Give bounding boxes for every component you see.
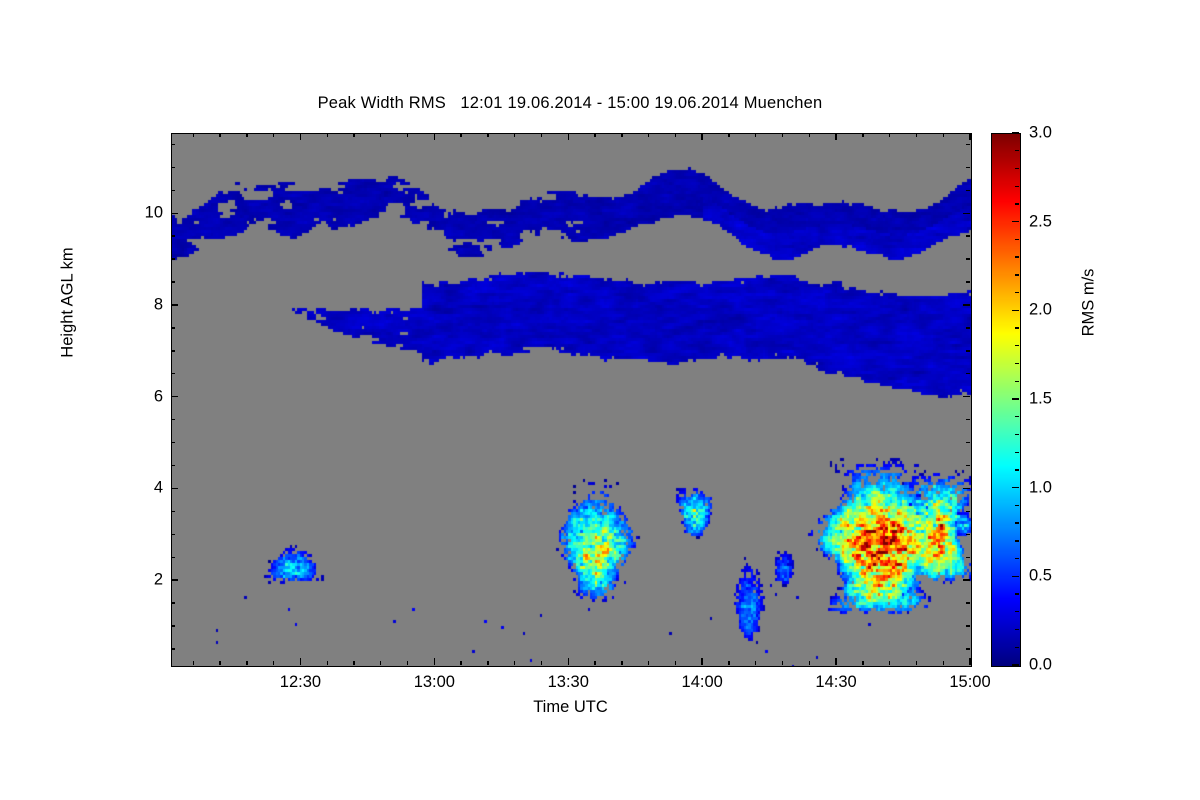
x-axis-label: Time UTC bbox=[171, 698, 970, 717]
x-major-tick bbox=[835, 658, 836, 665]
colorbar-tick-label-4: 2.0 bbox=[1029, 301, 1052, 320]
colorbar-minor-tick bbox=[1015, 505, 1019, 506]
y-minor-tick bbox=[171, 465, 175, 466]
y-minor-tick bbox=[966, 511, 970, 512]
page-title: Peak Width RMS 12:01 19.06.2014 - 15:00 … bbox=[0, 94, 1140, 113]
x-major-tick bbox=[969, 133, 970, 140]
y-minor-tick bbox=[966, 419, 970, 420]
colorbar-minor-tick bbox=[1015, 558, 1019, 559]
x-minor-tick bbox=[862, 661, 863, 665]
x-minor-tick bbox=[407, 661, 408, 665]
colorbar-tick-label-2: 1.0 bbox=[1029, 478, 1052, 497]
y-minor-tick bbox=[171, 190, 175, 191]
colorbar-minor-tick bbox=[1015, 611, 1019, 612]
colorbar-minor-tick bbox=[1015, 345, 1019, 346]
y-tick-label-4: 10 bbox=[145, 204, 163, 223]
x-minor-tick bbox=[460, 133, 461, 137]
y-minor-tick bbox=[966, 442, 970, 443]
y-minor-tick bbox=[171, 648, 175, 649]
y-tick-label-2: 6 bbox=[154, 387, 163, 406]
x-tick-label-4: 14:30 bbox=[815, 673, 856, 692]
x-minor-tick bbox=[943, 661, 944, 665]
colorbar-minor-tick bbox=[1015, 540, 1019, 541]
colorbar bbox=[991, 133, 1021, 667]
y-minor-tick bbox=[171, 350, 175, 351]
x-tick-label-3: 14:00 bbox=[682, 673, 723, 692]
x-minor-tick bbox=[916, 133, 917, 137]
plot-area bbox=[171, 133, 972, 667]
x-major-tick bbox=[568, 133, 569, 140]
colorbar-minor-tick bbox=[1015, 203, 1019, 204]
x-minor-tick bbox=[193, 133, 194, 137]
colorbar-tick-label-5: 2.5 bbox=[1029, 212, 1052, 231]
x-minor-tick bbox=[487, 661, 488, 665]
x-minor-tick bbox=[541, 661, 542, 665]
colorbar-major-tick bbox=[1012, 398, 1019, 399]
x-minor-tick bbox=[728, 661, 729, 665]
x-major-tick bbox=[300, 133, 301, 140]
heatmap-canvas bbox=[172, 134, 971, 666]
y-minor-tick bbox=[966, 625, 970, 626]
x-minor-tick bbox=[246, 133, 247, 137]
x-minor-tick bbox=[889, 133, 890, 137]
y-minor-tick bbox=[966, 190, 970, 191]
x-minor-tick bbox=[380, 133, 381, 137]
x-minor-tick bbox=[809, 661, 810, 665]
y-major-tick bbox=[963, 579, 970, 580]
colorbar-minor-tick bbox=[1015, 256, 1019, 257]
x-minor-tick bbox=[273, 661, 274, 665]
x-minor-tick bbox=[380, 661, 381, 665]
colorbar-minor-tick bbox=[1015, 629, 1019, 630]
y-minor-tick bbox=[171, 373, 175, 374]
x-major-tick bbox=[434, 658, 435, 665]
x-minor-tick bbox=[943, 133, 944, 137]
x-minor-tick bbox=[782, 661, 783, 665]
x-major-tick bbox=[300, 658, 301, 665]
x-minor-tick bbox=[755, 133, 756, 137]
colorbar-tick-label-3: 1.5 bbox=[1029, 390, 1052, 409]
y-minor-tick bbox=[171, 442, 175, 443]
x-minor-tick bbox=[541, 133, 542, 137]
colorbar-label: RMS m/s bbox=[1080, 197, 1099, 409]
y-minor-tick bbox=[966, 534, 970, 535]
colorbar-major-tick bbox=[1012, 487, 1019, 488]
y-major-tick bbox=[171, 488, 178, 489]
x-minor-tick bbox=[648, 133, 649, 137]
x-major-tick bbox=[701, 658, 702, 665]
x-minor-tick bbox=[487, 133, 488, 137]
y-minor-tick bbox=[966, 281, 970, 282]
colorbar-major-tick bbox=[1012, 664, 1019, 665]
x-minor-tick bbox=[353, 133, 354, 137]
y-minor-tick bbox=[171, 144, 175, 145]
y-tick-label-3: 8 bbox=[154, 295, 163, 314]
x-minor-tick bbox=[594, 661, 595, 665]
lidar-time-height-figure: Peak Width RMS 12:01 19.06.2014 - 15:00 … bbox=[0, 0, 1200, 800]
x-minor-tick bbox=[728, 133, 729, 137]
x-tick-label-5: 15:00 bbox=[949, 673, 990, 692]
colorbar-minor-tick bbox=[1015, 381, 1019, 382]
x-major-tick bbox=[835, 133, 836, 140]
y-minor-tick bbox=[171, 167, 175, 168]
x-minor-tick bbox=[594, 133, 595, 137]
x-major-tick bbox=[434, 133, 435, 140]
y-axis-label: Height AGL km bbox=[59, 197, 78, 409]
colorbar-minor-tick bbox=[1015, 593, 1019, 594]
colorbar-tick-label-6: 3.0 bbox=[1029, 124, 1052, 143]
y-major-tick bbox=[963, 213, 970, 214]
x-minor-tick bbox=[621, 133, 622, 137]
colorbar-minor-tick bbox=[1015, 186, 1019, 187]
x-tick-label-1: 13:00 bbox=[414, 673, 455, 692]
x-minor-tick bbox=[514, 133, 515, 137]
colorbar-tick-label-0: 0.0 bbox=[1029, 656, 1052, 675]
x-minor-tick bbox=[246, 661, 247, 665]
colorbar-major-tick bbox=[1012, 576, 1019, 577]
y-minor-tick bbox=[171, 327, 175, 328]
x-minor-tick bbox=[327, 133, 328, 137]
x-minor-tick bbox=[782, 133, 783, 137]
x-minor-tick bbox=[621, 661, 622, 665]
colorbar-major-tick bbox=[1012, 310, 1019, 311]
x-minor-tick bbox=[327, 661, 328, 665]
y-minor-tick bbox=[966, 258, 970, 259]
x-major-tick bbox=[701, 133, 702, 140]
colorbar-minor-tick bbox=[1015, 452, 1019, 453]
y-minor-tick bbox=[171, 602, 175, 603]
colorbar-minor-tick bbox=[1015, 416, 1019, 417]
y-tick-label-0: 2 bbox=[154, 571, 163, 590]
y-minor-tick bbox=[966, 327, 970, 328]
colorbar-tick-label-1: 0.5 bbox=[1029, 567, 1052, 586]
y-minor-tick bbox=[966, 167, 970, 168]
y-minor-tick bbox=[966, 648, 970, 649]
y-minor-tick bbox=[966, 602, 970, 603]
colorbar-minor-tick bbox=[1015, 168, 1019, 169]
y-minor-tick bbox=[966, 557, 970, 558]
y-minor-tick bbox=[171, 557, 175, 558]
x-minor-tick bbox=[273, 133, 274, 137]
y-major-tick bbox=[963, 488, 970, 489]
x-minor-tick bbox=[514, 661, 515, 665]
y-minor-tick bbox=[171, 258, 175, 259]
colorbar-minor-tick bbox=[1015, 327, 1019, 328]
colorbar-major-tick bbox=[1012, 132, 1019, 133]
colorbar-minor-tick bbox=[1015, 150, 1019, 151]
x-minor-tick bbox=[353, 661, 354, 665]
x-minor-tick bbox=[219, 133, 220, 137]
x-minor-tick bbox=[460, 661, 461, 665]
y-minor-tick bbox=[171, 534, 175, 535]
colorbar-minor-tick bbox=[1015, 239, 1019, 240]
colorbar-major-tick bbox=[1012, 221, 1019, 222]
colorbar-minor-tick bbox=[1015, 274, 1019, 275]
y-major-tick bbox=[171, 304, 178, 305]
colorbar-minor-tick bbox=[1015, 292, 1019, 293]
x-minor-tick bbox=[755, 661, 756, 665]
colorbar-minor-tick bbox=[1015, 434, 1019, 435]
y-minor-tick bbox=[966, 465, 970, 466]
x-minor-tick bbox=[862, 133, 863, 137]
x-minor-tick bbox=[675, 133, 676, 137]
x-minor-tick bbox=[675, 661, 676, 665]
y-minor-tick bbox=[966, 235, 970, 236]
y-minor-tick bbox=[171, 625, 175, 626]
y-major-tick bbox=[171, 213, 178, 214]
x-major-tick bbox=[969, 658, 970, 665]
y-minor-tick bbox=[171, 419, 175, 420]
x-tick-label-0: 12:30 bbox=[280, 673, 321, 692]
x-minor-tick bbox=[193, 661, 194, 665]
y-minor-tick bbox=[966, 373, 970, 374]
y-minor-tick bbox=[966, 144, 970, 145]
colorbar-minor-tick bbox=[1015, 522, 1019, 523]
y-major-tick bbox=[963, 396, 970, 397]
x-minor-tick bbox=[648, 661, 649, 665]
x-tick-label-2: 13:30 bbox=[548, 673, 589, 692]
colorbar-minor-tick bbox=[1015, 363, 1019, 364]
y-minor-tick bbox=[171, 511, 175, 512]
colorbar-gradient bbox=[992, 134, 1020, 666]
y-major-tick bbox=[171, 579, 178, 580]
y-major-tick bbox=[171, 396, 178, 397]
y-tick-label-1: 4 bbox=[154, 479, 163, 498]
x-minor-tick bbox=[809, 133, 810, 137]
x-minor-tick bbox=[889, 661, 890, 665]
y-major-tick bbox=[963, 304, 970, 305]
y-minor-tick bbox=[171, 235, 175, 236]
x-major-tick bbox=[568, 658, 569, 665]
colorbar-minor-tick bbox=[1015, 469, 1019, 470]
y-minor-tick bbox=[966, 350, 970, 351]
x-minor-tick bbox=[407, 133, 408, 137]
colorbar-minor-tick bbox=[1015, 647, 1019, 648]
y-minor-tick bbox=[171, 281, 175, 282]
x-minor-tick bbox=[916, 661, 917, 665]
x-minor-tick bbox=[219, 661, 220, 665]
